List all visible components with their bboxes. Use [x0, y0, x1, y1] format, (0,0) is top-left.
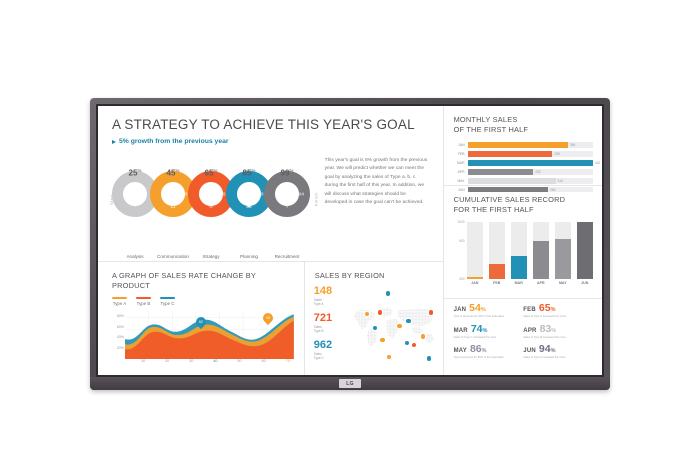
map-dot: [377, 309, 383, 315]
hero-subtitle-text: 5% growth from the previous year: [119, 138, 229, 145]
hero-subtitle: 5% growth from the previous year: [112, 138, 429, 145]
percent-stat-jan: JAN54%Type C accounts for 54% of the tot…: [454, 303, 524, 319]
monthly-bar-row: APR232: [454, 169, 593, 175]
map-dot: [386, 354, 392, 360]
ring-label: Communication: [157, 254, 189, 259]
x-tick-label: 50: [237, 359, 241, 363]
cumulative-y-axis: 4008001000: [454, 222, 466, 279]
region-stat: 148SalesType A: [314, 286, 332, 306]
monthly-bar-track: 299: [468, 151, 593, 157]
cumulative-bar-label: JAN: [467, 279, 483, 290]
percent-stat-month: FEB: [523, 307, 536, 313]
percent-stat-value: 94%: [539, 344, 556, 355]
percent-stat-line: APR83%: [523, 324, 593, 335]
dashboard-bottom-row: A GRAPH OF SALES RATE CHANGE BY PRODUCT …: [98, 262, 443, 375]
percent-stat-value: 83%: [540, 324, 557, 335]
chart-marker-pin: 62: [194, 315, 208, 329]
region-stat-caption: SalesType B: [314, 325, 332, 333]
x-tick-label: 20: [165, 359, 169, 363]
monthly-bar-fill: [468, 169, 534, 175]
ring-percent: 65%: [205, 168, 218, 178]
cumulative-bar-column[interactable]: [511, 222, 527, 279]
ring-label: Recruitment: [275, 254, 300, 259]
monthly-bar-track: 354: [468, 142, 593, 148]
percent-stat-may: MAY86%Type A accounts for 86% of the tot…: [454, 344, 524, 360]
lg-logo: LG: [339, 379, 361, 388]
monthly-bar-fill: [468, 151, 553, 157]
percent-stat-value: 65%: [539, 303, 556, 314]
dashboard-right-column: MONTHLY SALES OF THE FIRST HALF JAN354FE…: [444, 106, 602, 375]
monthly-bar-value: 310: [558, 179, 563, 183]
percent-stat-month: JAN: [454, 307, 467, 313]
monthly-bar-label: APR: [454, 170, 468, 174]
clock-icon: ◎: [208, 202, 213, 209]
percent-stat-month: MAR: [454, 328, 468, 334]
ring-percent: 45%: [167, 168, 180, 178]
cumulative-bars: [467, 222, 593, 279]
ring-percent: 25%: [129, 168, 142, 178]
percent-stat-line: MAR74%: [454, 324, 524, 335]
percent-stat-desc: Type A accounts for 86% of the total sal…: [454, 356, 524, 360]
monthly-bar-track: 442: [468, 160, 593, 166]
percent-stat-month: JUN: [523, 348, 536, 354]
calendar-icon: ▣: [246, 202, 252, 209]
hero-body: Start Finish 25%○Analysis45%Option 01△Co…: [112, 157, 429, 243]
x-tick-label: 60: [261, 359, 265, 363]
percent-stat-line: FEB65%: [523, 303, 593, 314]
map-dot: [396, 323, 402, 329]
x-tick-label: 10: [141, 359, 145, 363]
sales-by-region-panel: SALES BY REGION 148SalesType A721SalesTy…: [305, 262, 443, 375]
legend-item-type-b: Type B: [136, 297, 151, 306]
percent-stat-line: MAY86%: [454, 344, 524, 355]
dashboard: A STRATEGY TO ACHIEVE THIS YEAR'S GOAL 5…: [98, 106, 602, 375]
monthly-bar-row: MAY310: [454, 178, 593, 184]
monthly-bar-fill: [468, 142, 568, 148]
sales-rate-legend: Type AType BType C: [112, 297, 294, 306]
monthly-bar-value: 354: [570, 143, 575, 147]
monthly-bar-label: MAR: [454, 161, 468, 165]
cumulative-bar-fill: [555, 239, 571, 279]
map-dot: [428, 309, 434, 315]
legend-item-type-a: Type A: [112, 297, 127, 306]
cumulative-bar-label: JUN: [577, 279, 593, 290]
ring-option-tag: Option 04: [274, 192, 314, 197]
screenshot-root: A STRATEGY TO ACHIEVE THIS YEAR'S GOAL 5…: [0, 0, 700, 465]
x-axis-ticks: 10203040506070: [125, 359, 294, 369]
cumulative-bar-column[interactable]: [489, 222, 505, 279]
chart-marker-value: 45: [263, 313, 273, 323]
sales-rate-title: A GRAPH OF SALES RATE CHANGE BY PRODUCT: [112, 271, 294, 291]
cumulative-y-tick: 800: [459, 239, 464, 243]
monthly-bar-value: 232: [535, 170, 540, 174]
map-dot: [426, 355, 432, 361]
monthly-bar-value: 299: [554, 152, 559, 156]
y-tick-label: 60%: [117, 325, 124, 329]
region-stat-value: 721: [314, 313, 332, 324]
sales-rate-panel: A GRAPH OF SALES RATE CHANGE BY PRODUCT …: [98, 262, 305, 375]
ring-label: Planning: [240, 254, 258, 259]
percent-stat-jun: JUN94%Sales of Type A increased the most…: [523, 344, 593, 360]
legend-swatch: [136, 297, 151, 299]
process-ring-recruitment[interactable]: 99%Option 04▽Recruitment: [264, 171, 310, 217]
monthly-sales-title-line1: MONTHLY SALES: [454, 115, 593, 125]
goal-paragraph: This year's goal is 5% growth from the p…: [315, 157, 429, 243]
cumulative-bar-column[interactable]: [467, 222, 483, 279]
map-dot: [405, 318, 411, 324]
ring-label: Strategy: [202, 254, 219, 259]
legend-item-type-c: Type C: [160, 297, 175, 306]
region-stat-value: 962: [314, 340, 332, 351]
monthly-bar-row: JAN354: [454, 142, 593, 148]
area-plot: 62 45: [125, 311, 294, 359]
cumulative-bar-label: MAR: [511, 279, 527, 290]
cumulative-bar-column[interactable]: [577, 222, 593, 279]
monthly-sales-title-line2: OF THE FIRST HALF: [454, 125, 593, 135]
cumulative-y-tick: 400: [459, 277, 464, 281]
percent-stat-month: MAY: [454, 348, 467, 354]
magnifier-icon: ○: [133, 203, 137, 209]
percent-stat-apr: APR83%Sales of Type B increased the most…: [523, 324, 593, 340]
cumulative-bar-fill: [533, 241, 549, 279]
monthly-bar-fill: [468, 178, 556, 184]
ring-percent: 85%: [243, 168, 256, 178]
cumulative-bar-fill: [577, 222, 593, 279]
chat-icon: △: [171, 202, 176, 209]
legend-swatch: [112, 297, 127, 299]
cumulative-bar-label: MAY: [555, 279, 571, 290]
bulb-icon: ▽: [285, 202, 290, 209]
percent-stat-line: JAN54%: [454, 303, 524, 314]
monthly-sales-bars: JAN354FEB299MAR442APR232MAY310JUN284: [454, 142, 593, 193]
monthly-bar-row: FEB299: [454, 151, 593, 157]
region-stat-value: 148: [314, 286, 332, 297]
percent-stats-grid: JAN54%Type C accounts for 54% of the tot…: [444, 299, 602, 365]
cumulative-title-line1: CUMULATIVE SALES RECORD: [454, 195, 593, 205]
lg-display-monitor: A STRATEGY TO ACHIEVE THIS YEAR'S GOAL 5…: [90, 98, 610, 390]
page-title: A STRATEGY TO ACHIEVE THIS YEAR'S GOAL: [112, 117, 429, 132]
monthly-bar-fill: [468, 160, 593, 166]
x-tick-label: 70: [286, 359, 290, 363]
percent-stat-value: 74%: [471, 324, 488, 335]
percent-stat-value: 54%: [469, 303, 486, 314]
monthly-bar-value: 442: [595, 161, 600, 165]
sales-rate-chart: 20%40%60%80%: [112, 311, 294, 369]
percent-stat-line: JUN94%: [523, 344, 593, 355]
y-axis-ticks: 20%40%60%80%: [112, 311, 125, 359]
y-tick-label: 40%: [117, 335, 124, 339]
y-tick-label: 80%: [117, 314, 124, 318]
x-tick-label: 40: [213, 359, 217, 363]
cumulative-sales-panel: CUMULATIVE SALES RECORD FOR THE FIRST HA…: [444, 186, 602, 299]
cumulative-bar-column[interactable]: [533, 222, 549, 279]
y-tick-label: 20%: [117, 346, 124, 350]
map-dot: [420, 333, 426, 339]
monthly-bar-track: 310: [468, 178, 593, 184]
ring-percent: 99%: [281, 168, 294, 178]
x-tick-label: 30: [189, 359, 193, 363]
cumulative-bar-chart: 4008001000 JANFEBMARAPRMAYJUN: [454, 222, 593, 290]
percent-stat-desc: Sales of Type B increased the most.: [523, 336, 593, 340]
cumulative-title-line2: FOR THE FIRST HALF: [454, 205, 593, 215]
world-map: [349, 284, 439, 369]
monthly-bar-label: MAY: [454, 179, 468, 183]
percent-stat-desc: Sales of Type C increased the most.: [454, 336, 524, 340]
percent-stat-value: 86%: [470, 344, 487, 355]
cumulative-bar-fill: [489, 264, 505, 279]
cumulative-y-tick: 1000: [457, 220, 464, 224]
map-dot: [385, 290, 391, 296]
cumulative-x-labels: JANFEBMARAPRMAYJUN: [467, 279, 593, 290]
cumulative-bar-fill: [511, 256, 527, 279]
legend-swatch: [160, 297, 175, 299]
map-dot: [379, 337, 385, 343]
percent-stat-mar: MAR74%Sales of Type C increased the most…: [454, 324, 524, 340]
map-dot: [411, 342, 417, 348]
region-title: SALES BY REGION: [315, 271, 435, 281]
region-stat: 721SalesType B: [314, 313, 332, 333]
process-rings: 25%○Analysis45%Option 01△Communication65…: [112, 157, 315, 243]
triangle-bullet-icon: [112, 140, 116, 144]
monthly-bar-row: MAR442: [454, 160, 593, 166]
monthly-bar-label: FEB: [454, 152, 468, 156]
region-stat-caption: SalesType A: [314, 298, 332, 306]
percent-stat-month: APR: [523, 328, 536, 334]
cumulative-bar-column[interactable]: [555, 222, 571, 279]
region-stat-list: 148SalesType A721SalesType B962SalesType…: [314, 286, 332, 367]
percent-stat-feb: FEB65%Sales of Type C increased the most…: [523, 303, 593, 319]
display-screen: A STRATEGY TO ACHIEVE THIS YEAR'S GOAL 5…: [98, 106, 602, 375]
process-rings-wrap: Start Finish 25%○Analysis45%Option 01△Co…: [112, 157, 315, 243]
cumulative-bar-label: APR: [533, 279, 549, 290]
strategy-hero-panel: A STRATEGY TO ACHIEVE THIS YEAR'S GOAL 5…: [98, 106, 443, 262]
monthly-sales-panel: MONTHLY SALES OF THE FIRST HALF JAN354FE…: [444, 106, 602, 186]
monitor-bottom-bezel: LG: [90, 377, 610, 390]
monthly-bar-track: 232: [468, 169, 593, 175]
region-stat-caption: SalesType C: [314, 352, 332, 360]
cumulative-bar-label: FEB: [489, 279, 505, 290]
percent-stat-desc: Sales of Type C increased the most.: [523, 315, 593, 319]
percent-stat-desc: Type C accounts for 54% of the total sal…: [454, 315, 524, 319]
percent-stat-desc: Sales of Type A increased the most.: [523, 356, 593, 360]
dashboard-left-column: A STRATEGY TO ACHIEVE THIS YEAR'S GOAL 5…: [98, 106, 444, 375]
chart-marker-value: 62: [196, 317, 206, 327]
region-stat: 962SalesType C: [314, 340, 332, 360]
ring-label: Analysis: [126, 254, 143, 259]
monthly-bar-label: JAN: [454, 143, 468, 147]
